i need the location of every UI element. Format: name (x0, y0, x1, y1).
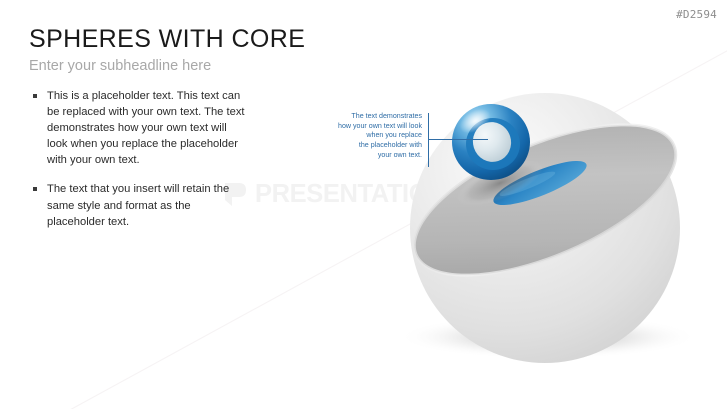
callout-vertical-rule (428, 113, 429, 167)
list-item: This is a placeholder text. This text ca… (29, 88, 247, 168)
callout-connector-line (428, 139, 488, 140)
page-subheadline: Enter your subheadline here (29, 58, 211, 74)
blue-core-sphere (452, 104, 530, 180)
list-item: The text that you insert will retain the… (29, 181, 247, 229)
sphere-cut-rim (394, 94, 696, 307)
callout-text-block: The text demonstrates how your own text … (300, 112, 422, 161)
page-title: SPHERES WITH CORE (29, 25, 305, 54)
list-item-text: This is a placeholder text. This text ca… (47, 90, 245, 166)
core-cast-shadow (451, 151, 548, 215)
callout-line: how your own text will look (300, 122, 422, 132)
bullet-list: This is a placeholder text. This text ca… (29, 88, 247, 230)
callout-line: The text demonstrates (300, 112, 422, 122)
core-outer-ring (452, 104, 530, 180)
sphere-outer-shell (410, 93, 680, 363)
callout-line: your own text. (300, 151, 422, 161)
cut-face-blue-slot (489, 153, 591, 214)
sphere-cut-face (394, 94, 696, 307)
square-bullet-icon (33, 187, 37, 191)
watermark-text: PRESENTATIONLOAD (255, 182, 517, 208)
callout-line: the placeholder with (300, 141, 422, 151)
core-center (468, 117, 517, 167)
cut-face-blue-slot-highlight (498, 168, 557, 200)
square-bullet-icon (33, 94, 37, 98)
watermark: PRESENTATIONLOAD (222, 181, 517, 208)
core-inner-ring (466, 118, 520, 170)
ground-shadow (398, 315, 698, 359)
callout-line: when you replace (300, 131, 422, 141)
slide-canvas: #D2594 SPHERES WITH CORE Enter your subh… (0, 0, 727, 409)
list-item-text: The text that you insert will retain the… (47, 183, 229, 227)
core-specular-highlight (455, 104, 494, 138)
document-id-label: #D2594 (676, 8, 717, 21)
